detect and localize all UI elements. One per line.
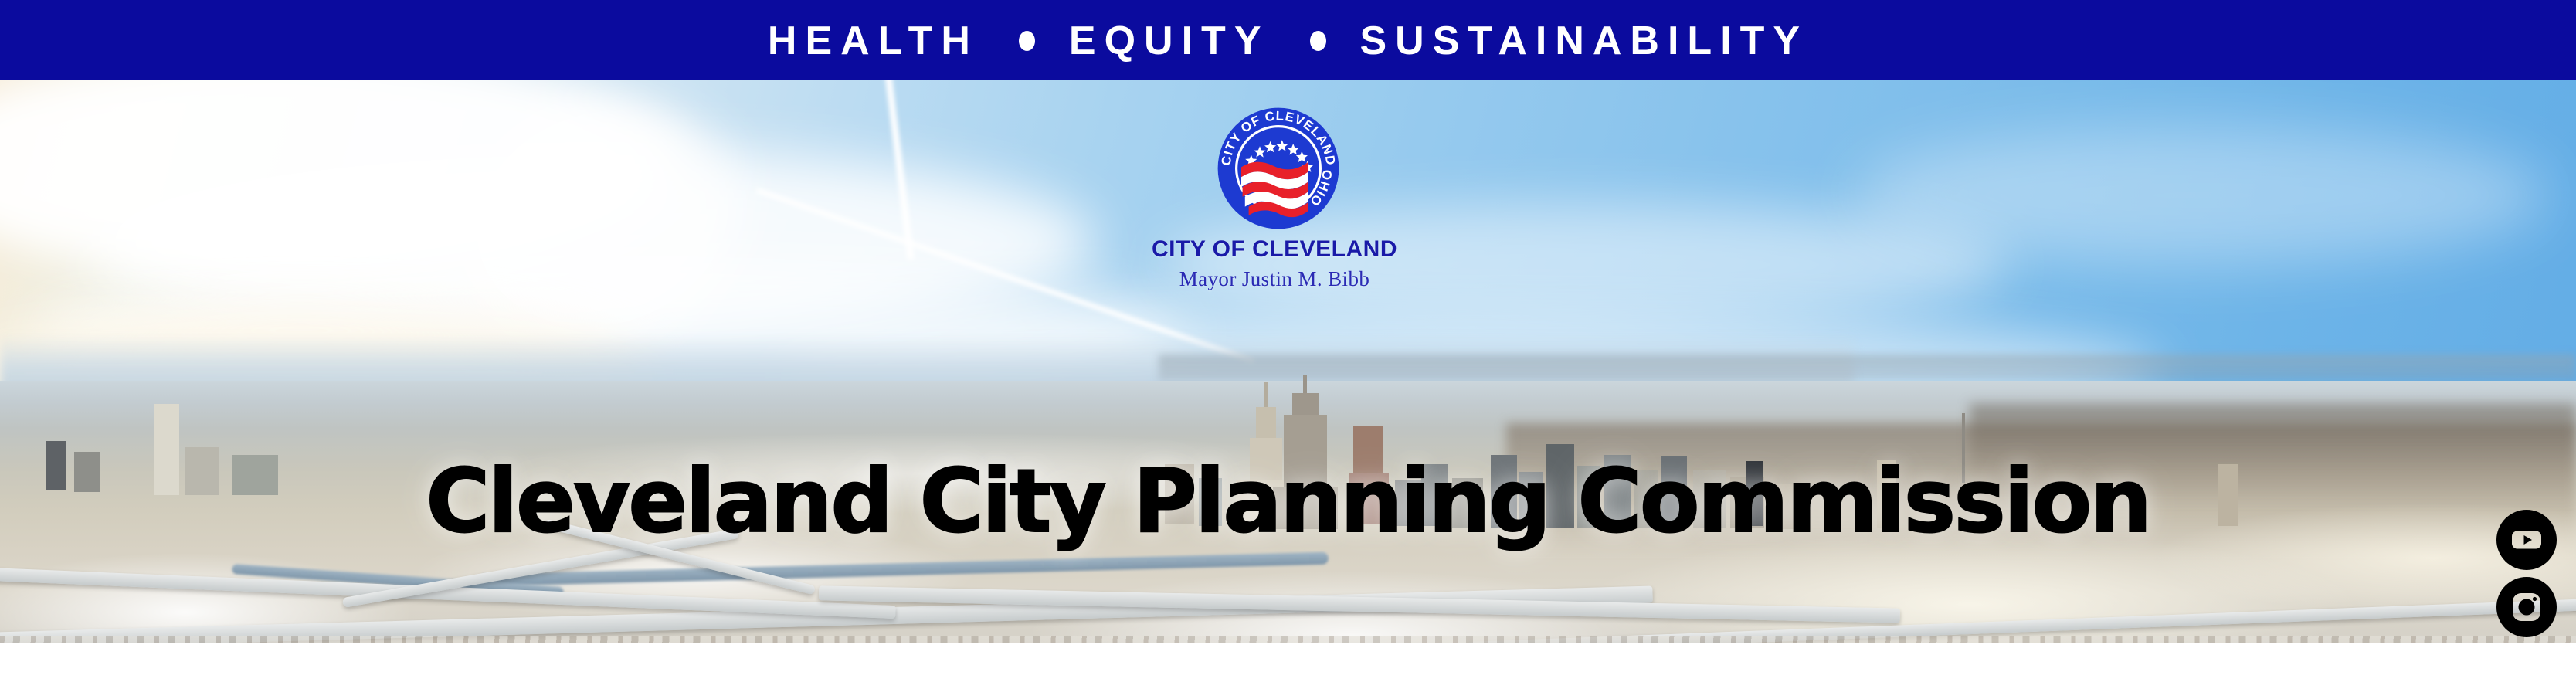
page-root: HEALTH EQUITY SUSTAINABILITY <box>0 0 2576 682</box>
social-links <box>2496 510 2557 643</box>
tagline-bullet-dot-1 <box>1019 31 1035 51</box>
tagline-bullet-dot-2 <box>1310 31 1326 51</box>
tagline-word-sustainability: SUSTAINABILITY <box>1360 21 1809 61</box>
city-of-cleveland-seal-icon: CITY OF CLEVELAND OHIO <box>1217 107 1340 230</box>
tagline-banner: HEALTH EQUITY SUSTAINABILITY <box>0 0 2576 80</box>
hero-photo: CITY OF CLEVELAND OHIO CITY OF CLEVELAND… <box>0 80 2576 643</box>
tagline-banner-inner: HEALTH EQUITY SUSTAINABILITY <box>768 21 1808 61</box>
youtube-icon[interactable] <box>2496 510 2557 570</box>
cloud-shape <box>1854 126 2549 265</box>
city-seal: CITY OF CLEVELAND OHIO <box>1217 107 1340 230</box>
brand-city-line: CITY OF CLEVELAND <box>966 238 1583 261</box>
instagram-icon[interactable] <box>2496 577 2557 637</box>
tagline-word-health: HEALTH <box>768 21 979 61</box>
page-title: Cleveland City Planning Commission <box>0 458 2576 545</box>
foreground-neighborhood <box>0 636 2576 643</box>
far-shore-haze <box>1159 355 2576 381</box>
brand-mayor-line: Mayor Justin M. Bibb <box>966 269 1583 290</box>
tagline-word-equity: EQUITY <box>1069 21 1270 61</box>
